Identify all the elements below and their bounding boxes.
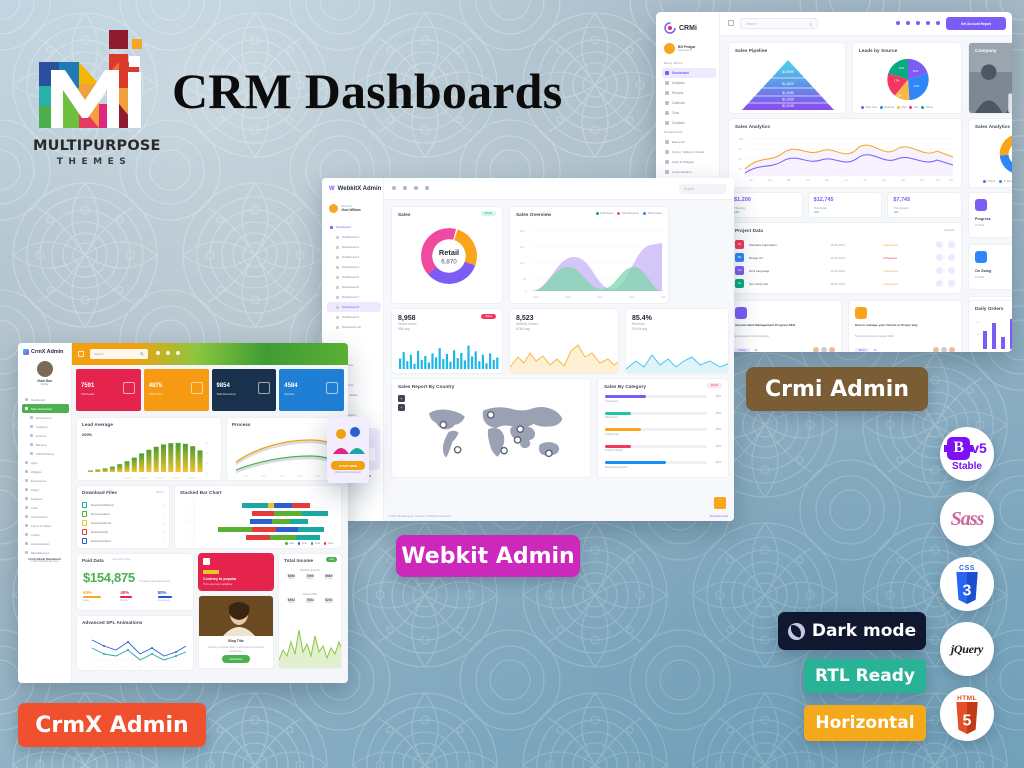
crmx-menu-list[interactable]: DashboardMain DashboardEcommerceAnalytic… — [22, 395, 69, 557]
menu-label: Dashboard — [31, 398, 69, 402]
topbar-icon[interactable] — [936, 21, 940, 25]
crmi-component-item[interactable]: Forms, Tables & Charts› — [662, 147, 716, 157]
card-sales-analytics-area[interactable]: Sales Analytics 100755025 JanFebMarApr M… — [728, 118, 962, 188]
bar — [176, 443, 181, 472]
category-track — [605, 412, 707, 415]
crmx-menu-item[interactable]: Authentication — [22, 539, 69, 548]
topbar-icon[interactable] — [916, 21, 920, 25]
list-item[interactable]: Download Manual⤓ — [82, 500, 164, 509]
crmx-menu-item[interactable]: Main Dashboard — [22, 404, 69, 413]
blog-text: Contrary to popular belief, Lorem Ipsum … — [205, 646, 267, 653]
stat-badge: Week — [481, 314, 496, 319]
edit-icon[interactable] — [936, 241, 943, 248]
bar — [460, 353, 462, 369]
svg-text:Aug: Aug — [882, 179, 887, 182]
card-title: Sales Analytics — [975, 124, 1010, 129]
post-title: How to manage your Clients in Proper way — [855, 323, 955, 327]
webkit-profile-name: Jhon William — [341, 208, 361, 212]
post-count: 20 — [754, 349, 757, 352]
svg-text:02-12-21: 02-12-21 — [156, 478, 164, 480]
project-status: ● Rejected — [883, 256, 931, 260]
crmx-menu-item[interactable]: Banking — [22, 440, 69, 449]
income-stat: $950Sales — [282, 574, 301, 580]
card-process[interactable]: Process 02-1102-1202-01 02-0202-0302-04 — [226, 417, 342, 481]
stat-value: $7,745 — [893, 197, 910, 203]
crmi-component-item[interactable]: Elements› — [662, 137, 716, 147]
search-icon[interactable] — [809, 23, 813, 27]
edit-icon[interactable] — [936, 280, 943, 287]
webkit-menu-item[interactable]: Dashboard 1 — [327, 232, 381, 242]
webkit-profile[interactable]: Welcome Jhon William — [329, 204, 361, 213]
crmx-menu-item[interactable]: Charts — [22, 530, 69, 539]
sales-badge: Month — [481, 211, 496, 216]
card-title: Sales Overview — [516, 212, 551, 217]
card-sales-donut[interactable]: Sales Month Retail 6,870 — [391, 206, 503, 304]
label-text: Dark mode — [812, 621, 916, 641]
svg-text:$1,8995: $1,8995 — [782, 70, 794, 74]
webkit-menu-item[interactable]: Dashboard 7 — [327, 292, 381, 302]
stat-icon — [258, 382, 270, 394]
menu-icon — [30, 425, 33, 428]
bar — [467, 346, 469, 369]
download-icon[interactable]: ⤓ — [163, 530, 164, 534]
menu-label: Dashboard 3 — [342, 255, 359, 259]
menu-label: Forms & Tables — [31, 524, 69, 528]
file-label: Download Zip — [91, 530, 159, 534]
webkit-menu-item[interactable]: Dashboard 8 — [327, 302, 381, 312]
table-row[interactable]: GDHtml Language10-01-2024● Approved — [735, 264, 955, 277]
project-data-table[interactable]: ADWindows Automation15-01-2024● Approved… — [735, 238, 955, 290]
webkit-menu-item[interactable]: Dashboard 10 — [327, 322, 381, 332]
file-icon — [82, 529, 87, 535]
crmi-brand: CRMi — [664, 22, 697, 34]
svg-text:2.0: 2.0 — [206, 463, 210, 465]
label-text: Horizontal — [815, 713, 914, 733]
crmi-menu-item-chat[interactable]: Chat — [662, 108, 716, 118]
menu-label: Contacts — [672, 121, 685, 125]
bar — [431, 353, 433, 369]
svg-text:$1,1535: $1,1535 — [782, 98, 794, 102]
bar — [168, 443, 173, 472]
crmi-search-input[interactable]: Search — [740, 18, 818, 29]
download-files-action[interactable]: View 1 — [156, 490, 164, 494]
crmi-menu-item-analytics[interactable]: Analytics — [662, 78, 716, 88]
project-status: ● Approved — [883, 269, 931, 273]
lead-average-bar-chart: 4.03.02.01.0 02-11-2102-11-2202-12-21 02… — [82, 438, 218, 480]
bar — [413, 364, 415, 369]
chevron-right-icon: › — [715, 170, 716, 174]
crmx-menu-item[interactable]: Ecommerce — [22, 413, 69, 422]
card-lead-average[interactable]: Lead Average 200% 4.03.02.01.0 02-11-210… — [76, 417, 222, 481]
stat-value: 85.4% — [632, 315, 652, 322]
stat-delta: +5% — [734, 211, 739, 214]
crmi-topbar-button-label: Get Account Report — [961, 22, 991, 26]
crmi-topbar-icons[interactable] — [896, 21, 940, 25]
paid-data-sub: Last Saving Set — [112, 558, 130, 561]
svg-text:12%: 12% — [899, 66, 905, 70]
webkit-topbar-icons[interactable] — [392, 186, 429, 190]
crmi-menu-item-contacts[interactable]: Contacts — [662, 118, 716, 128]
crmi-menu-list[interactable]: DashboardAnalyticsReportsCalendarChatCon… — [662, 68, 716, 128]
menu-label: Ecommerce — [31, 479, 69, 483]
axis-tick: 2020 — [565, 295, 572, 299]
menu-icon — [665, 140, 669, 144]
legend-item: Direct — [921, 106, 933, 109]
blog-button-label: Read More — [230, 658, 243, 661]
crmx-menu-item[interactable]: Card — [22, 503, 69, 512]
stat-icon — [326, 382, 338, 394]
crmx-menu-item[interactable]: Apps — [22, 458, 69, 467]
svg-text:Retail: Retail — [439, 248, 459, 257]
promo-icon — [203, 558, 210, 565]
topbar-icon[interactable] — [896, 21, 900, 25]
webkit-menu-item[interactable]: Dashboard 3 — [327, 252, 381, 262]
project-tag: AD — [735, 279, 744, 288]
download-icon[interactable]: ⤓ — [163, 521, 164, 525]
crmi-menu-item-calendar[interactable]: Calendar — [662, 98, 716, 108]
revenue-stat: 85.4% Revenue 19.4% avg — [632, 315, 652, 331]
zoom-out-icon[interactable]: − — [398, 404, 405, 411]
promo-accent-bar — [203, 570, 219, 574]
file-icon — [82, 538, 87, 544]
menu-icon — [336, 276, 339, 279]
category-track — [605, 395, 707, 398]
webkit-footer-left: © 2024 Multipurpose Themes. All Rights R… — [388, 514, 451, 518]
legend-item: Cost — [298, 542, 307, 545]
card-revenue[interactable]: 85.4% Revenue 19.4% avg — [625, 308, 729, 374]
card-advanced-spl[interactable]: Advanced SPL Animations 1234 567 — [76, 615, 194, 671]
crmi-stat-card: $1,200This Day+5% — [728, 192, 803, 218]
card-download-files[interactable]: Download Files View 1 Download Manual⤓Do… — [76, 485, 170, 549]
chevron-right-icon: › — [715, 150, 716, 154]
card-title: Project Data — [735, 228, 763, 233]
topbar-icon[interactable] — [906, 21, 910, 25]
menu-label: CRM Banking — [36, 452, 69, 456]
chevron-right-icon: › — [380, 343, 381, 347]
svg-text:17%: 17% — [894, 78, 900, 82]
topbar-icon[interactable] — [166, 351, 170, 355]
card-paid-data[interactable]: Paid Data Last Saving Set $154,875 Compa… — [76, 553, 194, 611]
svg-text:3: 3 — [963, 582, 972, 599]
bar — [198, 450, 203, 472]
topbar-icon[interactable] — [403, 186, 407, 190]
card-blog-promo[interactable]: Contrary to popular There are many varia… — [198, 553, 274, 591]
legend-item: Sale — [285, 542, 294, 545]
svg-text:3: 3 — [186, 521, 188, 523]
sass-icon: Sass — [951, 508, 984, 531]
menu-icon — [665, 121, 669, 125]
menu-label: Apps — [31, 461, 69, 465]
zoom-in-icon[interactable]: + — [398, 395, 405, 402]
delete-icon[interactable] — [948, 254, 955, 261]
menu-label: Charts — [31, 533, 69, 537]
metric-bar — [158, 596, 173, 598]
webkit-menu-item[interactable]: Dashboard 9 — [327, 312, 381, 322]
card-sales-by-category[interactable]: Sales By Category Month Computers40%Elec… — [597, 378, 729, 478]
webkit-menu-item[interactable]: Dashboard 6 — [327, 282, 381, 292]
card-project-data[interactable]: Project Data View All ADWindows Automati… — [728, 222, 962, 294]
chevron-right-icon: › — [380, 393, 381, 397]
topbar-icon[interactable] — [414, 186, 418, 190]
topbar-icon[interactable] — [425, 186, 429, 190]
webkit-topbar[interactable]: Search — [384, 178, 734, 200]
start-now-button[interactable]: START NOW — [331, 461, 365, 470]
crmx-menu-item[interactable]: Dashboard — [22, 395, 69, 404]
avatar — [933, 347, 939, 352]
crmx-menu-item[interactable]: Finance — [22, 431, 69, 440]
menu-icon — [336, 246, 339, 249]
svg-text:8%: 8% — [898, 93, 903, 97]
card-title: Sales Analytics — [735, 124, 770, 129]
stat-icon — [123, 382, 135, 394]
menu-toggle-icon[interactable] — [78, 351, 84, 357]
topbar-icon[interactable] — [926, 21, 930, 25]
crmx-menu-item[interactable]: Ecommerce — [22, 476, 69, 485]
crmi-menu-item-dashboard[interactable]: Dashboard — [662, 68, 716, 78]
menu-icon — [336, 256, 339, 259]
table-row[interactable]: ADWindows Automation15-01-2024● Approved — [735, 238, 955, 251]
online-users-bar-chart — [397, 342, 499, 370]
metric-label: Product — [120, 599, 149, 602]
leads-pie-legend: Web chatReferralMailAdsDirect — [861, 106, 933, 109]
project-date: 15-01-2024 — [830, 243, 878, 247]
income-label: Income — [319, 578, 338, 580]
webkitx-admin-screenshot[interactable]: W WebkitX Admin Welcome Jhon William Das… — [322, 178, 734, 521]
crmx-menu-item[interactable]: Components — [22, 512, 69, 521]
card-online-users[interactable]: 8,958 Online Users 554 avg Week — [391, 308, 503, 374]
category-fill — [605, 445, 631, 448]
svg-text:Oct: Oct — [920, 179, 924, 182]
income-label: Income — [319, 602, 338, 604]
crmx-menu-item[interactable]: CRM Banking — [22, 449, 69, 458]
crmx-menu-item[interactable]: Forms & Tables — [22, 521, 69, 530]
svg-text:31%: 31% — [914, 84, 920, 88]
edit-icon[interactable] — [936, 254, 943, 261]
delete-icon[interactable] — [948, 267, 955, 274]
card-sales-pipeline[interactable]: Sales Pipeline $1,8995$1,4829 $1,4055$1,… — [728, 42, 846, 114]
income-label: Sales — [282, 602, 301, 604]
stat-icon — [191, 382, 203, 394]
paid-data-metrics: 60%Sales40%Product50%Consumers — [83, 590, 187, 602]
bar — [471, 357, 473, 369]
topbar-icon[interactable] — [176, 351, 180, 355]
card-sales-analytics-donut[interactable]: Sales Analytics OnlineIn StorePending — [968, 118, 1012, 188]
stat-label: This Week — [814, 206, 827, 210]
stacked-bar-chart: 54321 — [180, 499, 338, 543]
card-stacked-bar-chart[interactable]: Stacked Bar Chart 54321 — [174, 485, 342, 549]
svg-text:6: 6 — [167, 666, 168, 668]
svg-text:3: 3 — [125, 666, 126, 668]
crmi-profile[interactable]: BG Pedgar Superadmin — [664, 43, 716, 54]
project-name: Seo Verify Net — [749, 282, 825, 286]
chevron-right-icon: › — [380, 403, 381, 407]
sass-badge: Sass — [940, 492, 994, 546]
project-data-view-all[interactable]: View All — [944, 228, 954, 232]
label-text: RTL Ready — [815, 666, 915, 686]
paid-metric: 40%Product — [120, 590, 149, 602]
crmi-post-card[interactable]: How to manage your Clients in Proper way… — [848, 300, 962, 352]
category-row: Product Repair25% — [605, 445, 721, 453]
menu-icon — [30, 443, 33, 446]
list-item[interactable]: Download Zip⤓ — [82, 527, 164, 536]
crmx-search-input[interactable]: Search — [90, 349, 148, 359]
crmx-start-now-widget[interactable]: START NOW Webkit Admin Dashboard — [327, 417, 369, 483]
stat-value: $1,200 — [734, 197, 751, 203]
table-row[interactable]: BDDesign Art12-01-2024● Rejected — [735, 251, 955, 264]
project-date: 12-01-2024 — [830, 256, 878, 260]
card-title: Sales — [398, 212, 411, 217]
logo-line2: THEMES — [33, 157, 151, 167]
avatar — [813, 347, 819, 352]
bar — [103, 468, 108, 472]
crmi-topbar-button[interactable]: Get Account Report — [946, 17, 1006, 30]
delete-icon[interactable] — [948, 280, 955, 287]
card-monthly-orders[interactable]: 8,523 Monthly Orders 8,094 avg — [509, 308, 619, 374]
menu-icon — [25, 524, 28, 527]
menu-icon — [25, 470, 28, 473]
chevron-right-icon: › — [715, 140, 716, 144]
crmx-profile[interactable]: Jhon Doe Online — [18, 361, 71, 386]
progress-icon — [975, 199, 987, 211]
crmx-sidebar[interactable]: CrmX Admin Jhon Doe Online DashboardMain… — [18, 343, 72, 683]
css3-shield-shape: 3 — [954, 572, 980, 604]
crmx-admin-screenshot[interactable]: CrmX Admin Jhon Doe Online DashboardMain… — [18, 343, 348, 683]
list-item[interactable]: Download Word⤓ — [82, 536, 164, 545]
crmi-component-item[interactable]: Authentication› — [662, 167, 716, 177]
search-icon[interactable] — [140, 352, 144, 356]
card-leads-by-source[interactable]: Leads by Source 32%31%8% 17%12% Web chat… — [852, 42, 962, 114]
blog-read-more-button[interactable]: Read More — [222, 655, 250, 663]
avatar — [829, 347, 835, 352]
webkit-search-input[interactable]: Search — [679, 184, 727, 194]
crmx-topbar[interactable]: Search — [72, 343, 348, 365]
bar — [161, 444, 166, 472]
download-icon[interactable]: ⤓ — [163, 512, 164, 516]
crmx-menu-item[interactable]: Analytics — [22, 422, 69, 431]
stat-label: Monthly Orders — [516, 322, 538, 327]
svg-text:7: 7 — [181, 666, 182, 668]
menu-label: Reports — [672, 91, 683, 95]
taxes-label: Taxes (4%) — [279, 592, 341, 596]
topbar-icon[interactable] — [392, 186, 396, 190]
bar — [485, 363, 487, 369]
list-item[interactable]: Documentation⤓ — [82, 509, 164, 518]
stat-value: 8,958 — [398, 315, 416, 322]
paid-metric: 50%Consumers — [158, 590, 187, 602]
bar — [190, 446, 195, 472]
menu-label: Dashboard 4 — [342, 265, 359, 269]
crmi-post-card[interactable]: Annual client Management Program SEOEmpl… — [728, 300, 842, 352]
menu-label: Card — [31, 506, 69, 510]
download-icon[interactable]: ⤓ — [163, 539, 164, 543]
crmi-progress-card[interactable]: On Going16 TaskTask7/22 — [968, 244, 1012, 290]
card-company-video[interactable]: Company — [968, 42, 1012, 114]
menu-icon — [25, 515, 28, 518]
category-fill — [605, 428, 641, 431]
download-icon[interactable]: ⤓ — [163, 503, 164, 507]
menu-toggle-icon[interactable] — [728, 20, 734, 26]
crmi-stats-row: $1,200This Day+5%$12,745This Week+8%$7,7… — [728, 192, 962, 218]
bar — [110, 467, 115, 472]
card-sales-report-by-country[interactable]: Sales Report By Country + − — [391, 378, 591, 478]
category-label: Telephones — [605, 433, 721, 436]
bar — [421, 360, 423, 369]
online-users-stat: 8,958 Online Users 554 avg — [398, 315, 416, 331]
stat-value: $12,745 — [814, 197, 834, 203]
topbar-icon[interactable] — [156, 351, 160, 355]
crmx-stat-card: 4584Services — [279, 369, 344, 411]
card-blog[interactable]: Blog Title Contrary to popular belief, L… — [198, 595, 274, 669]
webkit-menu-list[interactable]: DashboardDashboard 1Dashboard 2Dashboard… — [327, 222, 381, 332]
webkit-menu-item[interactable]: Dashboard — [327, 222, 381, 232]
menu-icon — [25, 479, 28, 482]
bootstrap-icon: B v5 — [947, 437, 987, 460]
menu-icon — [336, 286, 339, 289]
crmi-menu-item-reports[interactable]: Reports — [662, 88, 716, 98]
table-row[interactable]: ADSeo Verify Net08-01-2024● Approved — [735, 277, 955, 290]
webkit-menu-item[interactable]: Dashboard 4 — [327, 262, 381, 272]
crmx-menu-item[interactable]: Features — [22, 494, 69, 503]
menu-icon — [665, 81, 669, 85]
crmx-menu-item[interactable]: Widgets — [22, 467, 69, 476]
crmi-component-item[interactable]: Apps & Widgets› — [662, 157, 716, 167]
svg-text:0: 0 — [525, 289, 527, 293]
legend-item: Referral — [880, 106, 894, 109]
bar — [478, 361, 480, 369]
webkit-menu-item[interactable]: Dashboard 2 — [327, 242, 381, 252]
crmi-profile-role: Superadmin — [678, 49, 696, 53]
crmx-menu-item[interactable]: Miscellaneous — [22, 548, 69, 557]
crmx-menu-item[interactable]: Pages — [22, 485, 69, 494]
paid-amount: $154,875 — [83, 570, 135, 585]
webkit-menu-item[interactable]: Dashboard 5 — [327, 272, 381, 282]
bar — [428, 363, 430, 370]
paid-metric: 60%Sales — [83, 590, 112, 602]
company-video-thumbnail — [969, 43, 1012, 113]
menu-label: Dashboard — [672, 71, 689, 75]
legend-item: Online — [983, 180, 995, 183]
webkit-purchase-link[interactable]: Purchase Now — [710, 514, 728, 518]
monthly-orders-area-chart — [510, 341, 619, 373]
map-zoom-controls[interactable]: + − — [398, 395, 405, 411]
list-item[interactable]: Download Excel⤓ — [82, 518, 164, 527]
crmi-progress-card[interactable]: Progress24 TaskTask9/30 — [968, 192, 1012, 238]
menu-icon — [336, 236, 339, 239]
card-daily-orders[interactable]: Daily Orders 8040 Sep 10Sep 14Sep 16Sep … — [968, 300, 1012, 352]
crmi-stat-card: $7,745This Quarter+3% — [887, 192, 962, 218]
download-files-list[interactable]: Download Manual⤓Documentation⤓Download E… — [82, 500, 164, 545]
edit-icon[interactable] — [936, 267, 943, 274]
legend-item: Web chat — [861, 106, 877, 109]
card-sales-overview[interactable]: Sales Overview Total SalesTotal RevenueT… — [509, 206, 669, 304]
card-title: Sales Pipeline — [735, 48, 767, 53]
crmx-topbar-icons[interactable] — [156, 351, 180, 355]
bar — [424, 356, 426, 369]
svg-text:5: 5 — [963, 712, 972, 729]
card-total-income[interactable]: Total Income Year Monthly Income $950Sal… — [278, 553, 342, 669]
revenue-area-chart — [626, 347, 729, 373]
svg-text:32%: 32% — [913, 69, 919, 73]
post-tag: Design — [735, 348, 750, 352]
svg-text:200: 200 — [520, 245, 525, 249]
crmi-topbar[interactable]: Search Get Account Report — [720, 12, 1012, 36]
project-tag: AD — [735, 240, 744, 249]
delete-icon[interactable] — [948, 241, 955, 248]
settings-fab-icon[interactable] — [714, 497, 726, 509]
menu-icon — [25, 488, 28, 491]
card-title: Sales By Category — [604, 384, 646, 389]
menu-icon — [25, 506, 28, 509]
